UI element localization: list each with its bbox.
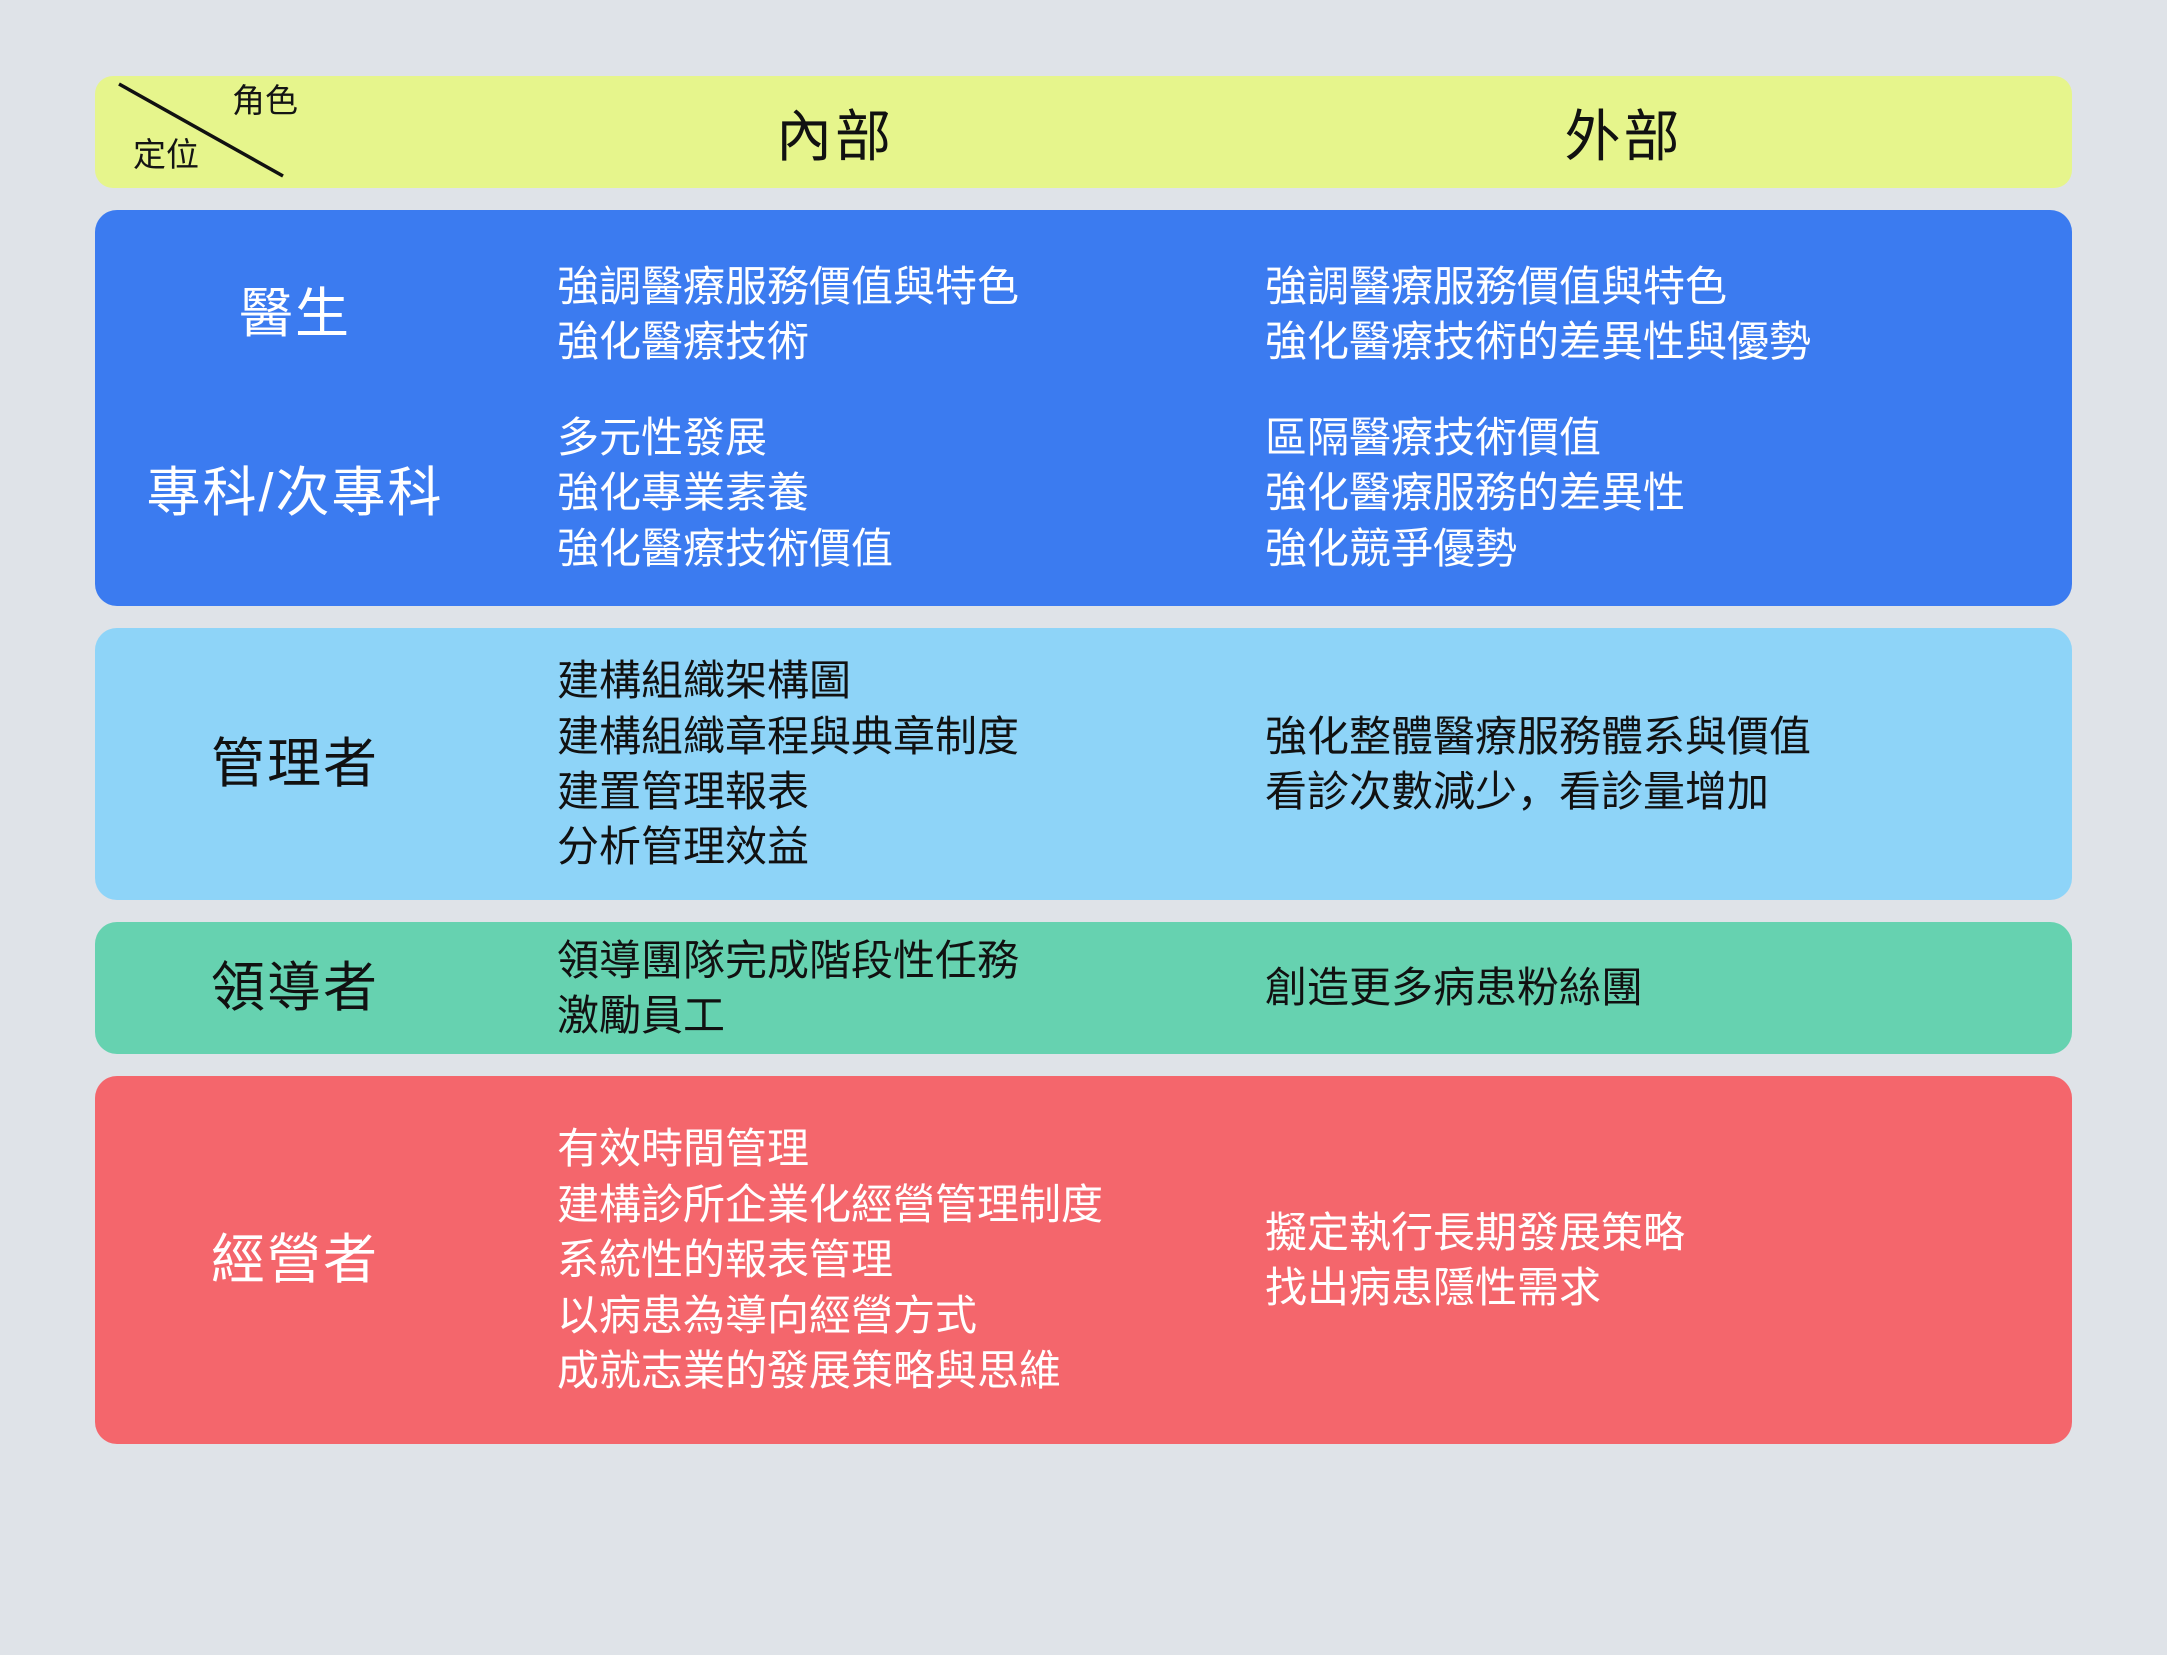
matrix-row-manager: 管理者 建構組織架構圖 建構組織章程與典章制度 建置管理報表 分析管理效益 強化… [95,628,2072,900]
cell-doctor-external: 強調醫療服務價值與特色 強化醫療技術的差異性與優勢 [1175,259,2072,370]
row-label-operator: 經營者 [95,1229,495,1291]
row-label-doctor: 醫生 [95,283,495,345]
row-label-leader: 領導者 [95,957,495,1019]
row-label-specialist: 專科/次專科 [95,462,495,524]
cell-doctor-internal: 強調醫療服務價值與特色 強化醫療技術 [495,259,1175,370]
cell-leader-external: 創造更多病患粉絲團 [1175,960,2072,1015]
corner-position-label: 定位 [133,138,199,171]
cell-specialist-external: 區隔醫療技術價值 強化醫療服務的差異性 強化競爭優勢 [1175,410,2072,576]
cell-manager-internal: 建構組織架構圖 建構組織章程與典章制度 建置管理報表 分析管理效益 [495,653,1175,875]
matrix-row-doctor: 醫生 強調醫療服務價值與特色 強化醫療技術 強調醫療服務價值與特色 強化醫療技術… [95,232,2072,396]
corner-role-label: 角色 [232,84,298,117]
clinical-roles-group: 醫生 強調醫療服務價值與特色 強化醫療技術 強調醫療服務價值與特色 強化醫療技術… [95,210,2072,606]
cell-manager-external: 強化整體醫療服務體系與價值 看診次數減少，看診量增加 [1175,709,2072,820]
role-position-matrix: 角色 定位 內部 外部 醫生 強調醫療服務價值與特色 強化醫療技術 強調醫療服務… [95,76,2072,1444]
matrix-row-specialist: 專科/次專科 多元性發展 強化專業素養 強化醫療技術價值 區隔醫療技術價值 強化… [95,396,2072,590]
matrix-header-row: 角色 定位 內部 外部 [95,76,2072,188]
cell-operator-internal: 有效時間管理 建構診所企業化經營管理制度 系統性的報表管理 以病患為導向經營方式… [495,1121,1175,1398]
cell-leader-internal: 領導團隊完成階段性任務 激勵員工 [495,933,1175,1044]
row-label-manager: 管理者 [95,733,495,795]
column-header-internal: 內部 [495,76,1175,188]
matrix-row-leader: 領導者 領導團隊完成階段性任務 激勵員工 創造更多病患粉絲團 [95,922,2072,1054]
corner-header-cell: 角色 定位 [95,76,495,188]
cell-operator-external: 擬定執行長期發展策略 找出病患隱性需求 [1175,1205,2072,1316]
matrix-row-operator: 經營者 有效時間管理 建構診所企業化經營管理制度 系統性的報表管理 以病患為導向… [95,1076,2072,1444]
cell-specialist-internal: 多元性發展 強化專業素養 強化醫療技術價值 [495,410,1175,576]
column-header-external: 外部 [1175,76,2072,188]
